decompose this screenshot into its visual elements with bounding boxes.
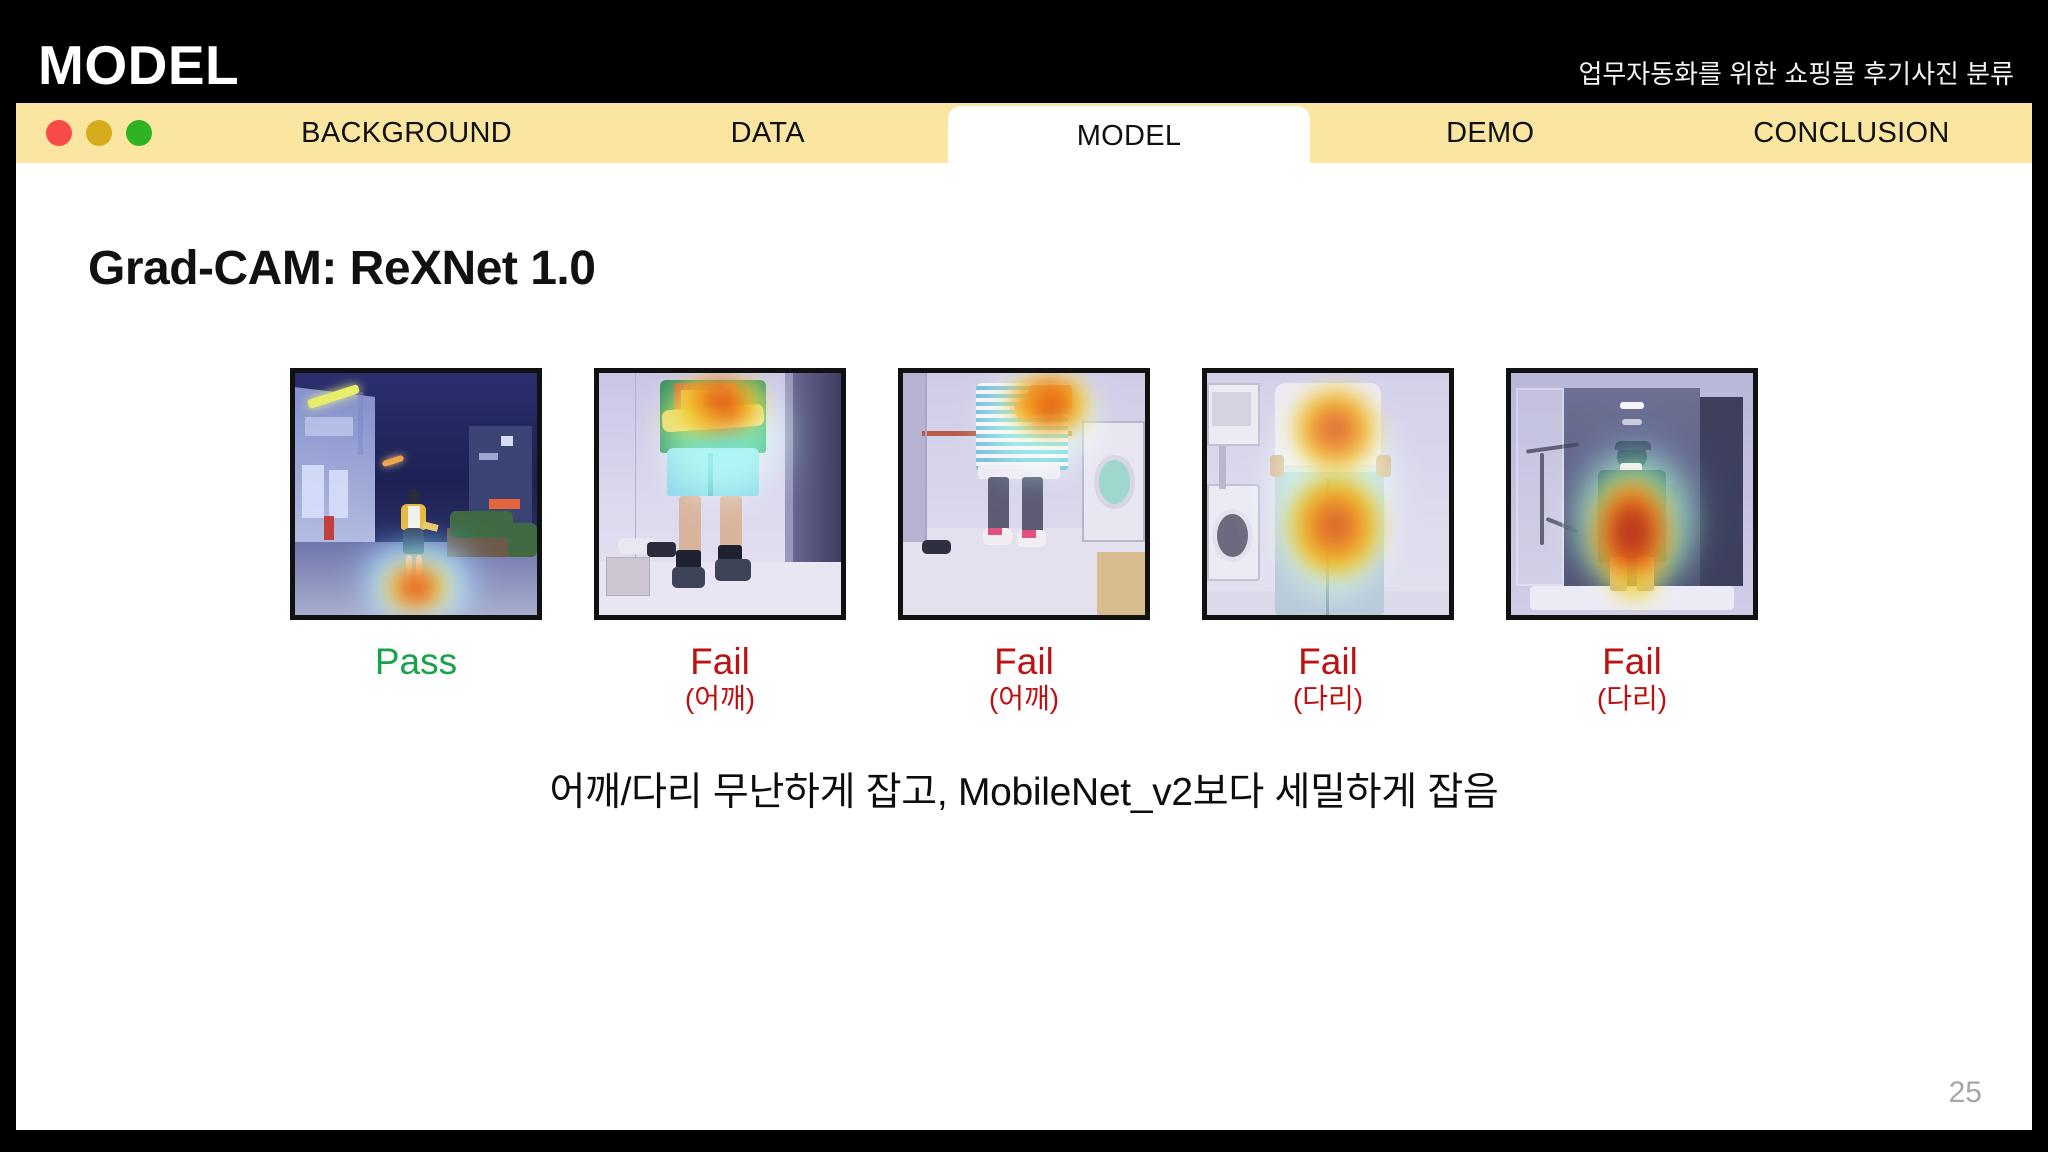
gallery-caption: Fail (어깨) (685, 642, 755, 714)
verdict-label: Pass (375, 642, 457, 682)
region-label: (다리) (1293, 684, 1363, 714)
presentation-slide: MODEL 업무자동화를 위한 쇼핑몰 후기사진 분류 BACKGROUND D… (0, 0, 2048, 1152)
region-label: (어깨) (989, 684, 1059, 714)
page-number: 25 (1949, 1076, 1982, 1110)
gallery-item: Fail (어깨) (594, 368, 846, 714)
maximize-window-icon[interactable] (126, 120, 152, 146)
gallery-item: Pass (290, 368, 542, 684)
tab-conclusion[interactable]: CONCLUSION (1671, 103, 2032, 163)
gallery-caption: Fail (어깨) (989, 642, 1059, 714)
bathroom-mirror-scene (1511, 373, 1753, 615)
night-street-scene (295, 373, 537, 615)
verdict-label: Fail (1293, 642, 1363, 682)
gradcam-image-2[interactable] (594, 368, 846, 620)
navigation-tabbar: BACKGROUND DATA MODEL DEMO CONCLUSION (16, 103, 2032, 163)
slide-header: MODEL 업무자동화를 위한 쇼핑몰 후기사진 분류 (16, 14, 2032, 103)
gallery-caption: Pass (375, 642, 457, 684)
close-window-icon[interactable] (46, 120, 72, 146)
gradcam-gallery: Pass (16, 368, 2032, 714)
summary-caption: 어깨/다리 무난하게 잡고, MobileNet_v2보다 세밀하게 잡음 (16, 761, 2032, 817)
gradcam-image-4[interactable] (1202, 368, 1454, 620)
section-title: MODEL (38, 38, 239, 93)
laundry-back-view-scene (1207, 373, 1449, 615)
fitting-room-scene (599, 373, 841, 615)
gradcam-image-5[interactable] (1506, 368, 1758, 620)
page-title: Grad-CAM: ReXNet 1.0 (88, 241, 595, 296)
window-controls (16, 120, 226, 146)
verdict-label: Fail (685, 642, 755, 682)
gradcam-image-3[interactable] (898, 368, 1150, 620)
presentation-subtitle: 업무자동화를 위한 쇼핑몰 후기사진 분류 (1578, 61, 2014, 93)
tab-list: BACKGROUND DATA MODEL DEMO CONCLUSION (226, 103, 2032, 163)
gallery-caption: Fail (다리) (1293, 642, 1363, 714)
slide-content: MODEL 업무자동화를 위한 쇼핑몰 후기사진 분류 BACKGROUND D… (16, 14, 2032, 1130)
tab-data[interactable]: DATA (587, 103, 948, 163)
region-label: (다리) (1597, 684, 1667, 714)
region-label: (어깨) (685, 684, 755, 714)
tab-demo[interactable]: DEMO (1310, 103, 1671, 163)
gallery-caption: Fail (다리) (1597, 642, 1667, 714)
verdict-label: Fail (1597, 642, 1667, 682)
laundry-room-scene (903, 373, 1145, 615)
gallery-item: Fail (다리) (1202, 368, 1454, 714)
gallery-item: Fail (다리) (1506, 368, 1758, 714)
tab-model[interactable]: MODEL (948, 106, 1309, 166)
gradcam-image-1[interactable] (290, 368, 542, 620)
slide-body: Grad-CAM: ReXNet 1.0 (16, 163, 2032, 1130)
gallery-item: Fail (어깨) (898, 368, 1150, 714)
verdict-label: Fail (989, 642, 1059, 682)
minimize-window-icon[interactable] (86, 120, 112, 146)
tab-background[interactable]: BACKGROUND (226, 103, 587, 163)
